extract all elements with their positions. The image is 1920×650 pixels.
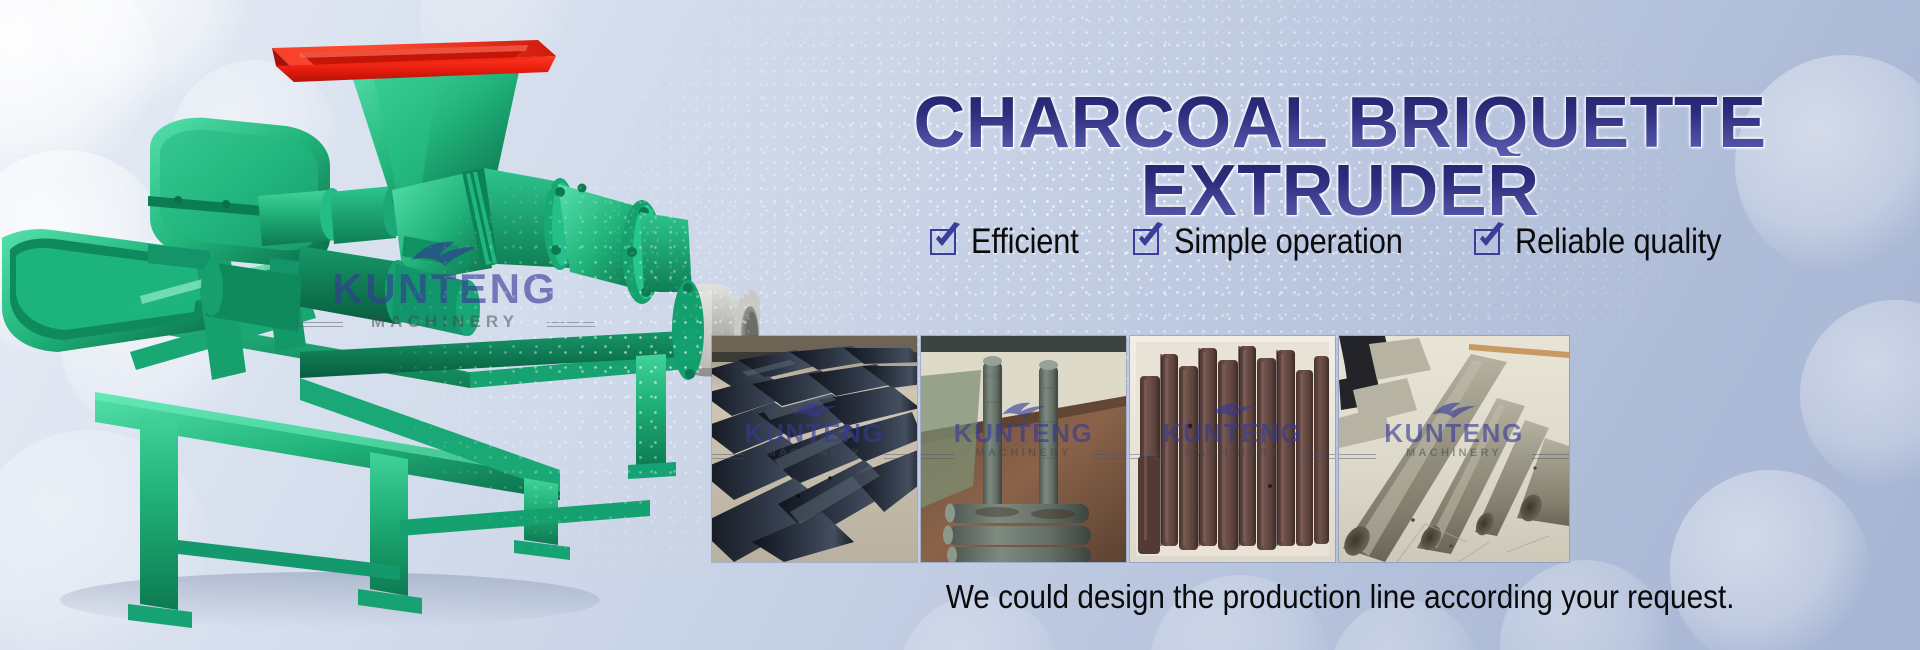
feature-item-reliable-quality: Reliable quality	[1474, 222, 1750, 262]
extruder-machine-illustration	[0, 0, 760, 650]
feature-label: Simple operation	[1174, 222, 1403, 262]
headline-line-1: CHARCOAL BRIQUETTE	[760, 90, 1920, 156]
feature-label: Reliable quality	[1515, 222, 1721, 262]
feature-item-simple-operation: Simple operation	[1133, 222, 1434, 262]
content-column: CHARCOAL BRIQUETTE EXTRUDER Efficient	[760, 0, 1920, 650]
thumb-grey-charcoal-rods[interactable]: KUNTENG MACHINERY	[921, 336, 1126, 562]
feature-label: Efficient	[971, 222, 1079, 262]
die-flange	[672, 280, 704, 380]
product-thumbnail-strip: KUNTENG MACHINERY	[712, 336, 1872, 562]
machine-photo: KUNTENG MACHINERY	[0, 0, 760, 650]
feature-item-efficient: Efficient	[930, 222, 1093, 262]
tagline-text: We could design the production line acco…	[946, 578, 1735, 616]
checkbox-checked-icon	[930, 227, 960, 257]
thumb-tan-hollow-briquettes[interactable]: KUNTENG MACHINERY	[1339, 336, 1569, 562]
checkbox-checked-icon	[1474, 227, 1504, 257]
thumb-brown-briquettes[interactable]: KUNTENG MACHINERY	[1130, 336, 1335, 562]
thumb-black-charcoal-bars[interactable]: KUNTENG MACHINERY	[712, 336, 917, 562]
headline-line-2: EXTRUDER	[760, 158, 1920, 224]
promotional-banner: KUNTENG MACHINERY CHARCOAL BRIQUETTE EXT…	[0, 0, 1920, 650]
feature-list: Efficient Simple operation	[760, 222, 1920, 262]
tagline: We could design the production line acco…	[760, 578, 1920, 616]
checkbox-checked-icon	[1133, 227, 1163, 257]
page-title: CHARCOAL BRIQUETTE EXTRUDER	[760, 90, 1920, 224]
